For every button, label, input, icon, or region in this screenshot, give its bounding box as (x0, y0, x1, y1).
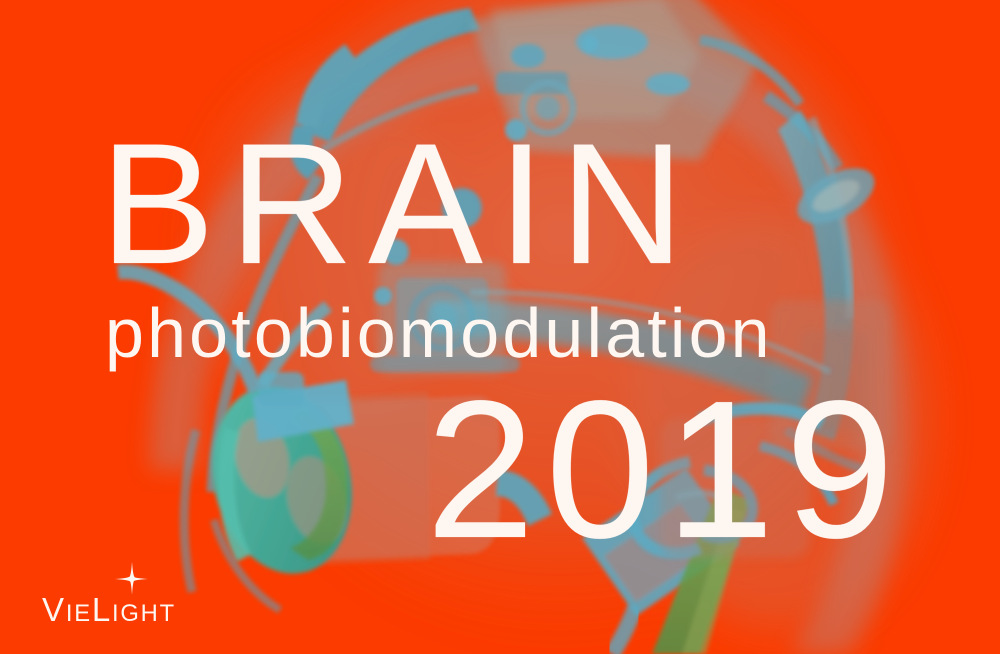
logo-letter-l: L (92, 591, 112, 628)
four-point-star-icon (114, 561, 150, 597)
vielight-logo[interactable]: VIELIGHT (42, 593, 176, 626)
logo-letters-ie: IE (66, 600, 92, 627)
logo-letters-ight: IGHT (112, 600, 176, 627)
conference-poster: BRAIN photobiomodulation 2019 VIELIGHT (0, 0, 1000, 654)
vielight-wordmark: VIELIGHT (42, 593, 176, 626)
logo-letter-v: V (42, 591, 66, 628)
headset-artwork (0, 0, 1000, 654)
